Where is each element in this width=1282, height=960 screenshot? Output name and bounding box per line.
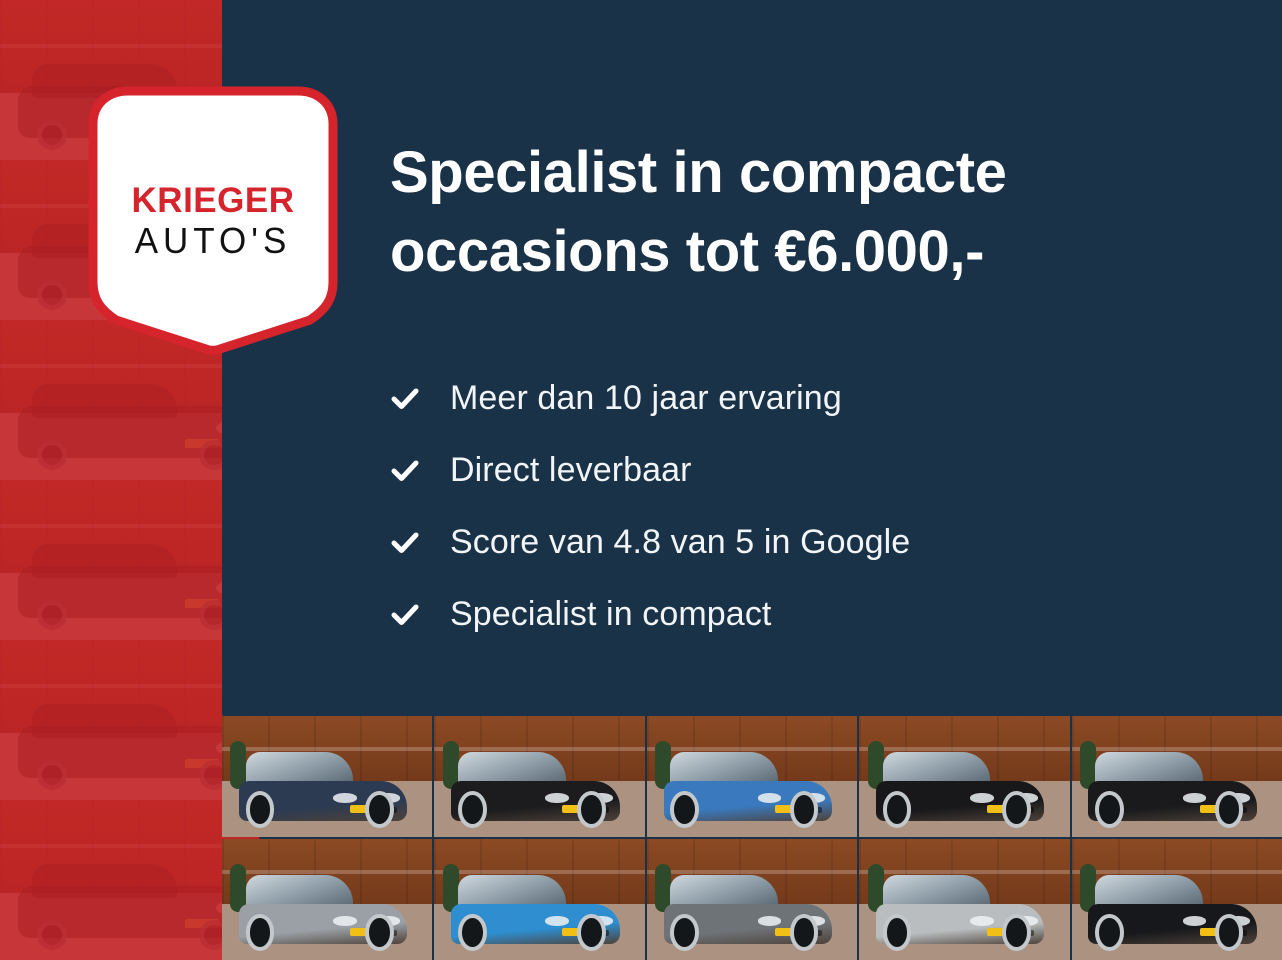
car-photo-seat-ibiza-silver[interactable] (222, 839, 432, 960)
car-wheel (458, 914, 487, 951)
page-title: Specialist in compacte occasions tot €6.… (390, 134, 1200, 292)
car-wheel (1002, 791, 1031, 828)
usp-label: Score van 4.8 van 5 in Google (450, 525, 910, 559)
car-silhouette (451, 871, 619, 956)
car-photo-peugeot-206-silver[interactable] (859, 839, 1069, 960)
car-wheel (670, 791, 699, 828)
check-icon (388, 597, 422, 631)
car-silhouette (1088, 748, 1256, 833)
car-wheel (1095, 914, 1124, 951)
usp-list: Meer dan 10 jaar ervaring Direct leverba… (388, 362, 1148, 650)
car-wheel (883, 914, 912, 951)
car-wheel (246, 914, 275, 951)
car-wheel (1215, 791, 1244, 828)
headlight-icon (758, 793, 782, 802)
car-wheel (246, 791, 275, 828)
list-item: Specialist in compact (388, 578, 1148, 650)
car-photo-renault-twingo-black[interactable] (1072, 716, 1282, 837)
car-photo-ford-focus-black[interactable] (434, 716, 644, 837)
headlight-icon (1183, 916, 1207, 925)
headline-line-2: occasions tot €6.000,- (390, 213, 1200, 292)
car-wheel (790, 791, 819, 828)
car-photo-vw-polo-blue[interactable] (647, 716, 857, 837)
car-silhouette (876, 748, 1044, 833)
car-silhouette (664, 748, 832, 833)
headlight-icon (758, 916, 782, 925)
headlight-icon (970, 793, 994, 802)
list-item: Score van 4.8 van 5 in Google (388, 506, 1148, 578)
car-photo-fiat-500-dark-blue[interactable] (222, 716, 432, 837)
headlight-icon (970, 916, 994, 925)
car-photo-ford-focus-blue[interactable] (434, 839, 644, 960)
car-silhouette (876, 871, 1044, 956)
advertisement-banner: KRIEGER AUTO'S Specialist in compacte oc… (0, 0, 1282, 960)
headlight-icon (333, 916, 357, 925)
check-icon (388, 525, 422, 559)
car-silhouette (239, 748, 407, 833)
usp-label: Meer dan 10 jaar ervaring (450, 381, 842, 415)
car-wheel (1215, 914, 1244, 951)
car-wheel (458, 791, 487, 828)
car-wheel (670, 914, 699, 951)
check-icon (388, 453, 422, 487)
car-wheel (577, 914, 606, 951)
car-wheel (1002, 914, 1031, 951)
list-item: Direct leverbaar (388, 434, 1148, 506)
car-photo-toyota-corolla-grey[interactable] (647, 839, 857, 960)
car-silhouette (451, 748, 619, 833)
headlight-icon (545, 793, 569, 802)
usp-label: Direct leverbaar (450, 453, 692, 487)
usp-label: Specialist in compact (450, 597, 771, 631)
car-wheel (365, 914, 394, 951)
headlight-icon (1183, 793, 1207, 802)
car-silhouette (664, 871, 832, 956)
headlight-icon (545, 916, 569, 925)
car-photo-gallery (222, 716, 1282, 960)
car-silhouette (1088, 871, 1256, 956)
krieger-logo[interactable]: KRIEGER AUTO'S (88, 86, 338, 356)
car-silhouette (239, 871, 407, 956)
check-icon (388, 381, 422, 415)
car-wheel (577, 791, 606, 828)
car-wheel (790, 914, 819, 951)
list-item: Meer dan 10 jaar ervaring (388, 362, 1148, 434)
car-photo-opel-astra-black[interactable] (1072, 839, 1282, 960)
shield-icon (88, 86, 338, 356)
car-wheel (1095, 791, 1124, 828)
car-wheel (365, 791, 394, 828)
headlight-icon (333, 793, 357, 802)
car-wheel (883, 791, 912, 828)
headline-line-1: Specialist in compacte (390, 134, 1200, 213)
car-photo-fiat-punto-black[interactable] (859, 716, 1069, 837)
